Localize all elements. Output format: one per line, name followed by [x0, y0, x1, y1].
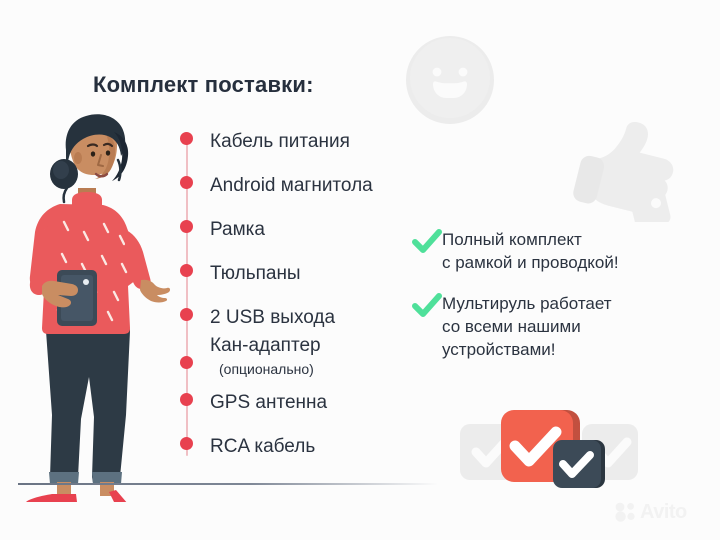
avito-logo-icon	[614, 502, 636, 522]
list-item-label: GPS антенна	[210, 393, 327, 413]
woman-illustration	[8, 112, 183, 502]
list-item: Кабель питания	[180, 132, 430, 152]
list-item: 2 USB выхода	[180, 308, 430, 328]
page-title: Комплект поставки:	[93, 72, 314, 98]
benefit-line: Полный комплект	[442, 228, 619, 251]
bullet-dot	[180, 176, 193, 189]
checkbox-group-icon	[458, 404, 638, 496]
bullet-dot	[180, 308, 193, 321]
list-item-label: 2 USB выхода	[210, 308, 335, 328]
benefits-list: Полный комплект с рамкой и проводкой! Му…	[412, 228, 692, 379]
list-item-label: Рамка	[210, 220, 265, 240]
list-item-label: Тюльпаны	[210, 264, 301, 284]
bullet-dot	[180, 393, 193, 406]
bullet-dot	[180, 264, 193, 277]
list-item: RCA кабель	[180, 437, 430, 457]
list-item: Android магнитола	[180, 176, 430, 196]
list-item: Рамка	[180, 220, 430, 240]
benefit-text: Полный комплект с рамкой и проводкой!	[442, 228, 619, 274]
ground-line	[18, 483, 438, 485]
list-item: GPS антенна	[180, 393, 430, 413]
list-item: Тюльпаны	[180, 264, 430, 284]
benefit-line: Мультируль работает	[442, 292, 612, 315]
benefit-item: Полный комплект с рамкой и проводкой!	[412, 228, 692, 274]
bullet-dot	[180, 356, 193, 369]
bullet-dot	[180, 437, 193, 450]
promo-card: Комплект поставки: Кабель питания Androi…	[0, 0, 720, 540]
list-item-sublabel: (опционально)	[219, 359, 321, 379]
thumbs-up-icon	[572, 112, 690, 222]
benefit-line: устройствами!	[442, 338, 612, 361]
list-item-main: Кан-адаптер	[210, 335, 321, 356]
list-item-label: RCA кабель	[210, 437, 315, 457]
benefit-item: Мультируль работает со всеми нашими устр…	[412, 292, 692, 361]
check-icon	[412, 293, 442, 319]
benefit-line: с рамкой и проводкой!	[442, 251, 619, 274]
list-item-label: Android магнитола	[210, 176, 373, 196]
list-item: Кан-адаптер (опционально)	[180, 346, 430, 379]
bullet-dot	[180, 132, 193, 145]
benefit-text: Мультируль работает со всеми нашими устр…	[442, 292, 612, 361]
bullet-dot	[180, 220, 193, 233]
avito-wordmark: Avito	[640, 502, 687, 522]
list-item-label: Кабель питания	[210, 132, 350, 152]
package-list: Кабель питания Android магнитола Рамка Т…	[180, 132, 430, 457]
avito-watermark: Avito	[614, 498, 710, 526]
smiley-face-icon	[404, 34, 496, 126]
check-icon	[412, 229, 442, 255]
list-item-label: Кан-адаптер (опционально)	[210, 336, 321, 379]
benefit-line: со всеми нашими	[442, 315, 612, 338]
